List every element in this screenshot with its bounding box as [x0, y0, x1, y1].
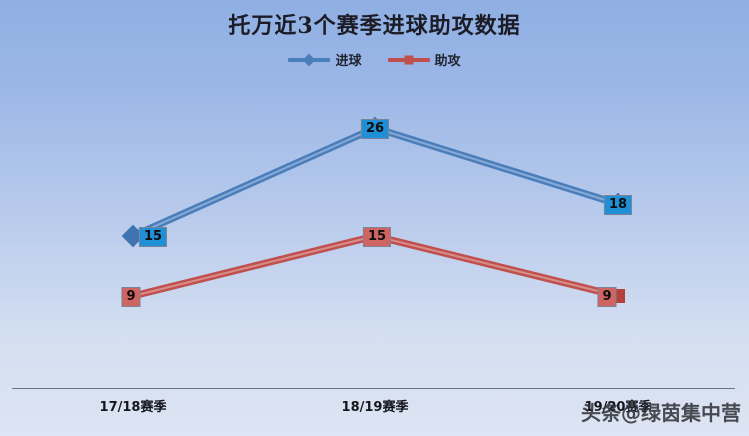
data-label-goals-1: 26	[361, 119, 389, 139]
data-label-goals-2: 18	[604, 195, 632, 215]
line-series-goals-highlight	[133, 128, 618, 236]
data-label-assists-2: 9	[597, 287, 616, 307]
series-lines	[0, 0, 749, 436]
chart-container: 托万近3个赛季进球助攻数据 进球 助攻	[0, 0, 749, 436]
x-axis-label-1: 18/19赛季	[342, 396, 409, 415]
x-axis-label-0: 17/18赛季	[100, 396, 167, 415]
watermark-text: 头条@绿茵集中营	[581, 397, 741, 426]
x-axis-line	[12, 388, 735, 389]
data-label-assists-0: 9	[121, 287, 140, 307]
plot-area: 15 26 18 9 15 9 17/18赛季 18/19赛季 19/20赛季	[0, 0, 749, 436]
data-label-assists-1: 15	[363, 227, 391, 247]
data-label-goals-0: 15	[139, 227, 167, 247]
